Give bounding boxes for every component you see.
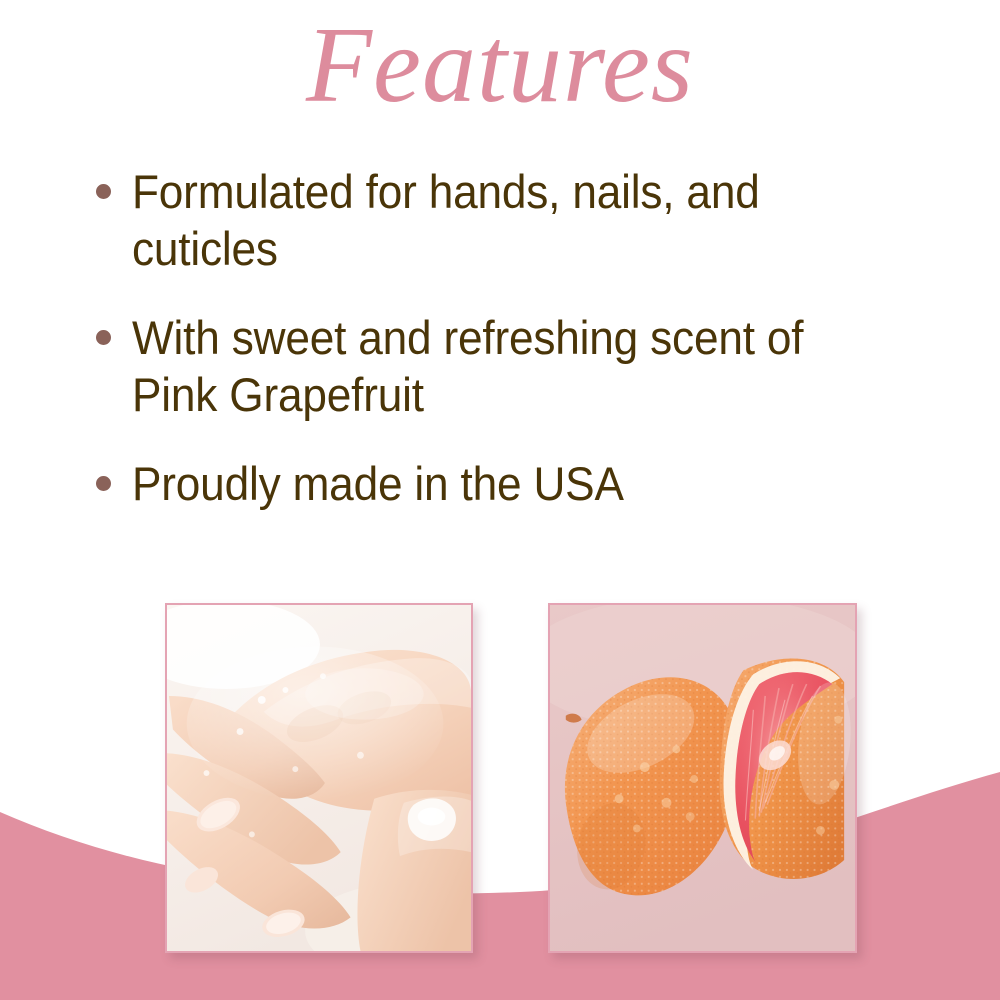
- list-item: Formulated for hands, nails, and cuticle…: [88, 163, 878, 277]
- hands-lotion-illustration: [167, 605, 471, 951]
- grapefruit-photo-alt: Two halves of a pink grapefruit, one sho…: [550, 951, 551, 952]
- bullet-dot-icon: [96, 476, 111, 491]
- page-title: Features: [0, 6, 1000, 127]
- list-item: With sweet and refreshing scent of Pink …: [88, 309, 878, 423]
- feature-text: Formulated for hands, nails, and cuticle…: [132, 163, 833, 277]
- feature-banner: Features Formulated for hands, nails, an…: [0, 0, 1000, 1000]
- feature-text: Proudly made in the USA: [132, 455, 833, 512]
- pink-grapefruit-photo: Two halves of a pink grapefruit, one sho…: [548, 603, 857, 953]
- features-list: Formulated for hands, nails, and cuticle…: [88, 163, 878, 512]
- feature-text: With sweet and refreshing scent of Pink …: [132, 309, 833, 423]
- bullet-dot-icon: [96, 184, 111, 199]
- hands-photo-alt: Close-up of two hands applying white moi…: [167, 951, 168, 952]
- grapefruit-illustration: [550, 605, 855, 951]
- list-item: Proudly made in the USA: [88, 455, 878, 512]
- bullet-dot-icon: [96, 330, 111, 345]
- hands-lotion-photo: Close-up of two hands applying white moi…: [165, 603, 473, 953]
